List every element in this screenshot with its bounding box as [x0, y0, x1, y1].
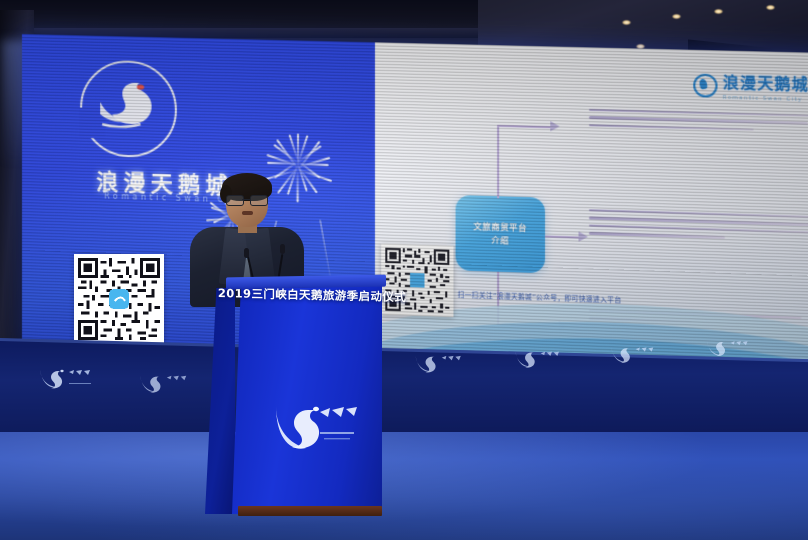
flow-connector-up-h — [497, 125, 551, 130]
slide-paragraph-1 — [589, 109, 808, 138]
microphone-head-right — [280, 244, 285, 254]
ceiling-spotlight — [714, 9, 723, 14]
qr-left-image — [78, 258, 160, 340]
flow-connector-mid — [545, 235, 581, 239]
sanmenxia-swan-logo-icon — [704, 338, 754, 359]
qr-slide[interactable] — [381, 244, 453, 318]
microphone-head-left — [244, 248, 249, 258]
stage-scene: 浪漫天鹅城 Romantic Swan City 文旅商贸平台 介绍 — [0, 0, 808, 540]
ceiling-spotlight — [766, 5, 775, 10]
podium-sign-text: 2019三门峡白天鹅旅游季启动仪式 — [218, 285, 406, 305]
qr-left[interactable] — [74, 254, 164, 344]
flow-node-line2: 介绍 — [491, 235, 509, 247]
flow-node-line1: 文旅商贸平台 — [473, 221, 527, 234]
speaker-glasses-icon — [226, 195, 268, 205]
skirt-swan-logo — [512, 348, 574, 374]
podium-swan-logo — [268, 398, 360, 460]
skirt-swan-logo — [36, 366, 98, 392]
slide-logo-text-cn: 浪漫天鹅城 — [723, 71, 808, 95]
skirt-swan-logo — [608, 344, 670, 370]
sanmenxia-swan-logo-icon — [36, 366, 98, 392]
led-slide-panel: 浪漫天鹅城 Romantic Swan City 文旅商贸平台 介绍 — [375, 42, 808, 384]
skirt-swan-logo — [704, 338, 766, 364]
flow-arrow-1 — [550, 121, 559, 131]
sanmenxia-swan-logo-icon — [412, 352, 468, 376]
speaker-mouth — [242, 211, 253, 215]
ceiling-spotlight — [672, 14, 681, 19]
slide-paragraph-2 — [589, 209, 808, 247]
slide-header-logo: 浪漫天鹅城 Romantic Swan City — [693, 70, 808, 103]
swan-logo-badge: 浪漫天鹅城 Romantic Swan City — [80, 59, 177, 158]
podium-base — [238, 506, 382, 516]
flow-arrow-2 — [579, 231, 588, 242]
skirt-swan-logo — [412, 352, 474, 378]
floor-light-sheen — [0, 432, 808, 540]
ceiling-spotlight — [622, 20, 631, 25]
sanmenxia-swan-logo-icon — [268, 398, 360, 460]
sanmenxia-swan-logo-icon — [608, 344, 660, 366]
sanmenxia-swan-logo-icon — [512, 348, 566, 371]
swan-circle-icon — [693, 73, 717, 97]
skirt-swan-logo — [136, 372, 198, 398]
swan-icon — [94, 72, 161, 140]
podium-sign: 2019三门峡白天鹅旅游季启动仪式 — [240, 280, 384, 309]
flow-connector-up — [497, 125, 500, 199]
flow-node-box: 文旅商贸平台 介绍 — [456, 195, 545, 273]
sanmenxia-swan-logo-icon — [136, 372, 194, 396]
slide-logo-text-en: Romantic Swan City — [723, 95, 808, 103]
